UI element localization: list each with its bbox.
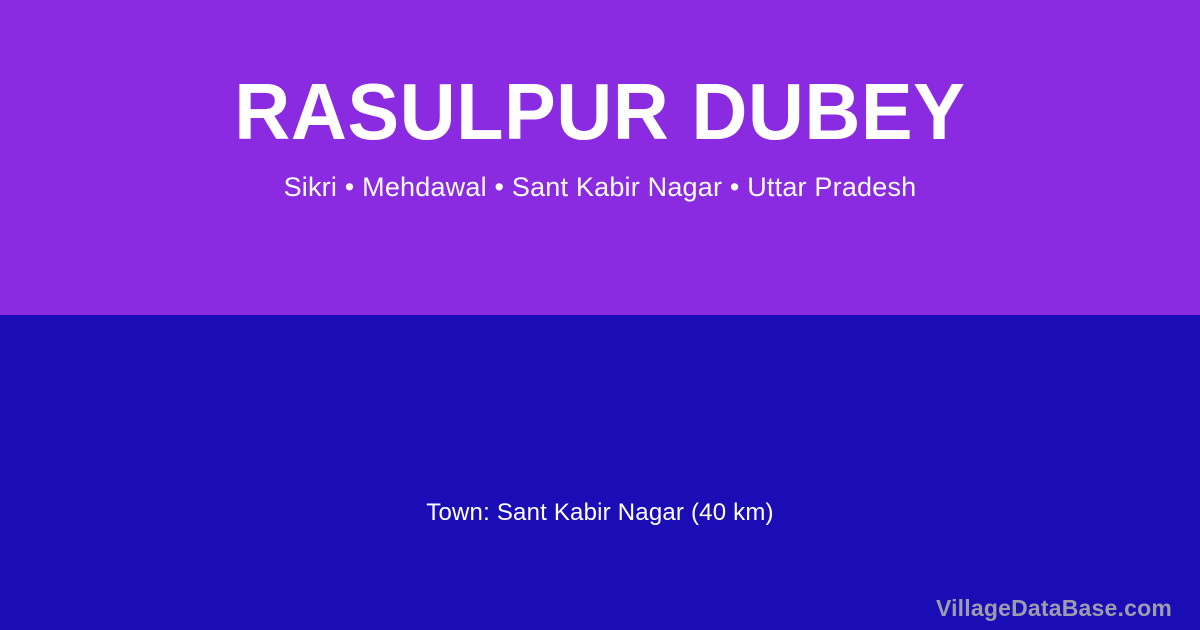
page-title: RASULPUR DUBEY: [234, 72, 965, 152]
site-watermark: VillageDataBase.com: [936, 595, 1172, 622]
details-section: Town: Sant Kabir Nagar (40 km) VillageDa…: [0, 315, 1200, 630]
hero-banner: RASULPUR DUBEY Sikri • Mehdawal • Sant K…: [0, 0, 1200, 315]
village-info-card: RASULPUR DUBEY Sikri • Mehdawal • Sant K…: [0, 0, 1200, 630]
nearest-town-info: Town: Sant Kabir Nagar (40 km): [0, 499, 1200, 527]
breadcrumb: Sikri • Mehdawal • Sant Kabir Nagar • Ut…: [284, 172, 917, 203]
